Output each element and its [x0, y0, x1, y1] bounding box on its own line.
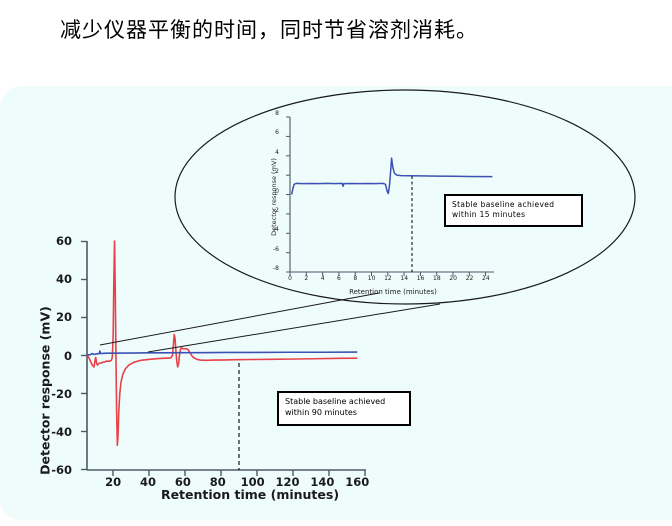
- tick-label: 4: [239, 149, 279, 156]
- tick-label: 40: [32, 272, 72, 286]
- callout-main-baseline: Stable baseline achieved within 90 minut…: [277, 391, 411, 426]
- callout-inset-baseline: Stable baseline achieved within 15 minut…: [444, 194, 583, 227]
- tick-label: 2: [239, 168, 279, 175]
- tick-label: 8: [239, 110, 279, 117]
- tick-label: 60: [32, 234, 72, 248]
- tick-label: 24: [461, 275, 511, 282]
- tick-label: 6: [239, 129, 279, 136]
- tick-label: -2: [239, 207, 279, 214]
- tick-label: -6: [239, 246, 279, 253]
- main-y-ticks: [81, 242, 87, 470]
- figure-artwork: [0, 0, 672, 526]
- tick-label: 20: [32, 310, 72, 324]
- inset-y-ticks: [286, 117, 290, 272]
- inset-x-axis-label: Retention time (minutes): [293, 288, 493, 296]
- tick-label: -8: [239, 265, 279, 272]
- tick-label: -60: [32, 463, 72, 477]
- main-trace-blue: [87, 351, 357, 355]
- callout-inset-line1: Stable baseline achieved: [452, 200, 577, 210]
- tick-label: -40: [32, 425, 72, 439]
- callout-inset-line2: within 15 minutes: [452, 210, 577, 220]
- callout-main-line1: Stable baseline achieved: [285, 397, 404, 408]
- tick-label: -20: [32, 387, 72, 401]
- tick-label: 0: [239, 188, 279, 195]
- inset-y-axis-label: Detector response (mV): [270, 142, 278, 252]
- tick-label: 160: [332, 475, 382, 489]
- callout-main-line2: within 90 minutes: [285, 408, 404, 419]
- inset-trace-blue: [292, 158, 493, 194]
- slide-root: 减少仪器平衡的时间，同时节省溶剂消耗。: [0, 0, 672, 526]
- tick-label: 0: [32, 349, 72, 363]
- main-x-axis-label: Retention time (minutes): [110, 487, 390, 502]
- tick-label: -4: [239, 226, 279, 233]
